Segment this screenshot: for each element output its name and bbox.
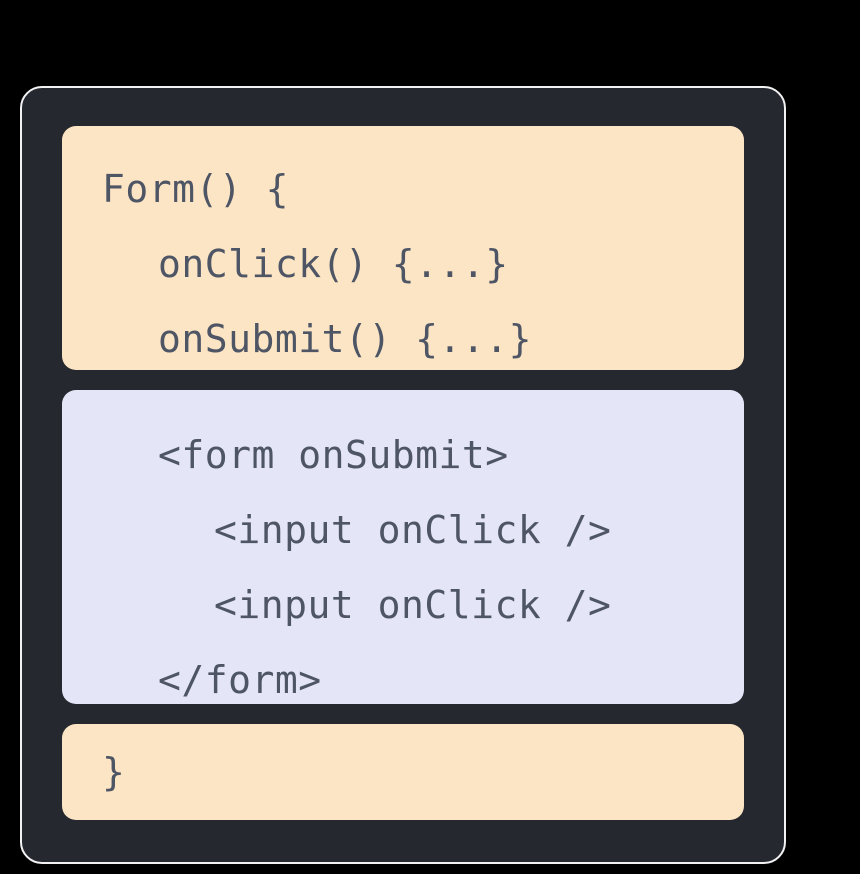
- code-line-onsubmit-handler: onSubmit() {...}: [62, 302, 744, 370]
- code-line-form-declaration: Form() {: [62, 152, 744, 227]
- code-card-closing-brace: }: [62, 724, 744, 820]
- code-card-component-body: Form() { onClick() {...} onSubmit() {...…: [62, 126, 744, 370]
- code-line-onclick-handler: onClick() {...}: [62, 227, 744, 302]
- code-line-closing-brace: }: [62, 746, 744, 798]
- code-line-input-second: <input onClick />: [62, 568, 744, 643]
- code-line-form-close-tag: </form>: [62, 643, 744, 704]
- code-line-input-first: <input onClick />: [62, 493, 744, 568]
- code-card-markup: <form onSubmit> <input onClick /> <input…: [62, 390, 744, 704]
- canvas: Form() { onClick() {...} onSubmit() {...…: [0, 0, 860, 874]
- component-shell: Form() { onClick() {...} onSubmit() {...…: [20, 86, 786, 864]
- code-line-form-open-tag: <form onSubmit>: [62, 418, 744, 493]
